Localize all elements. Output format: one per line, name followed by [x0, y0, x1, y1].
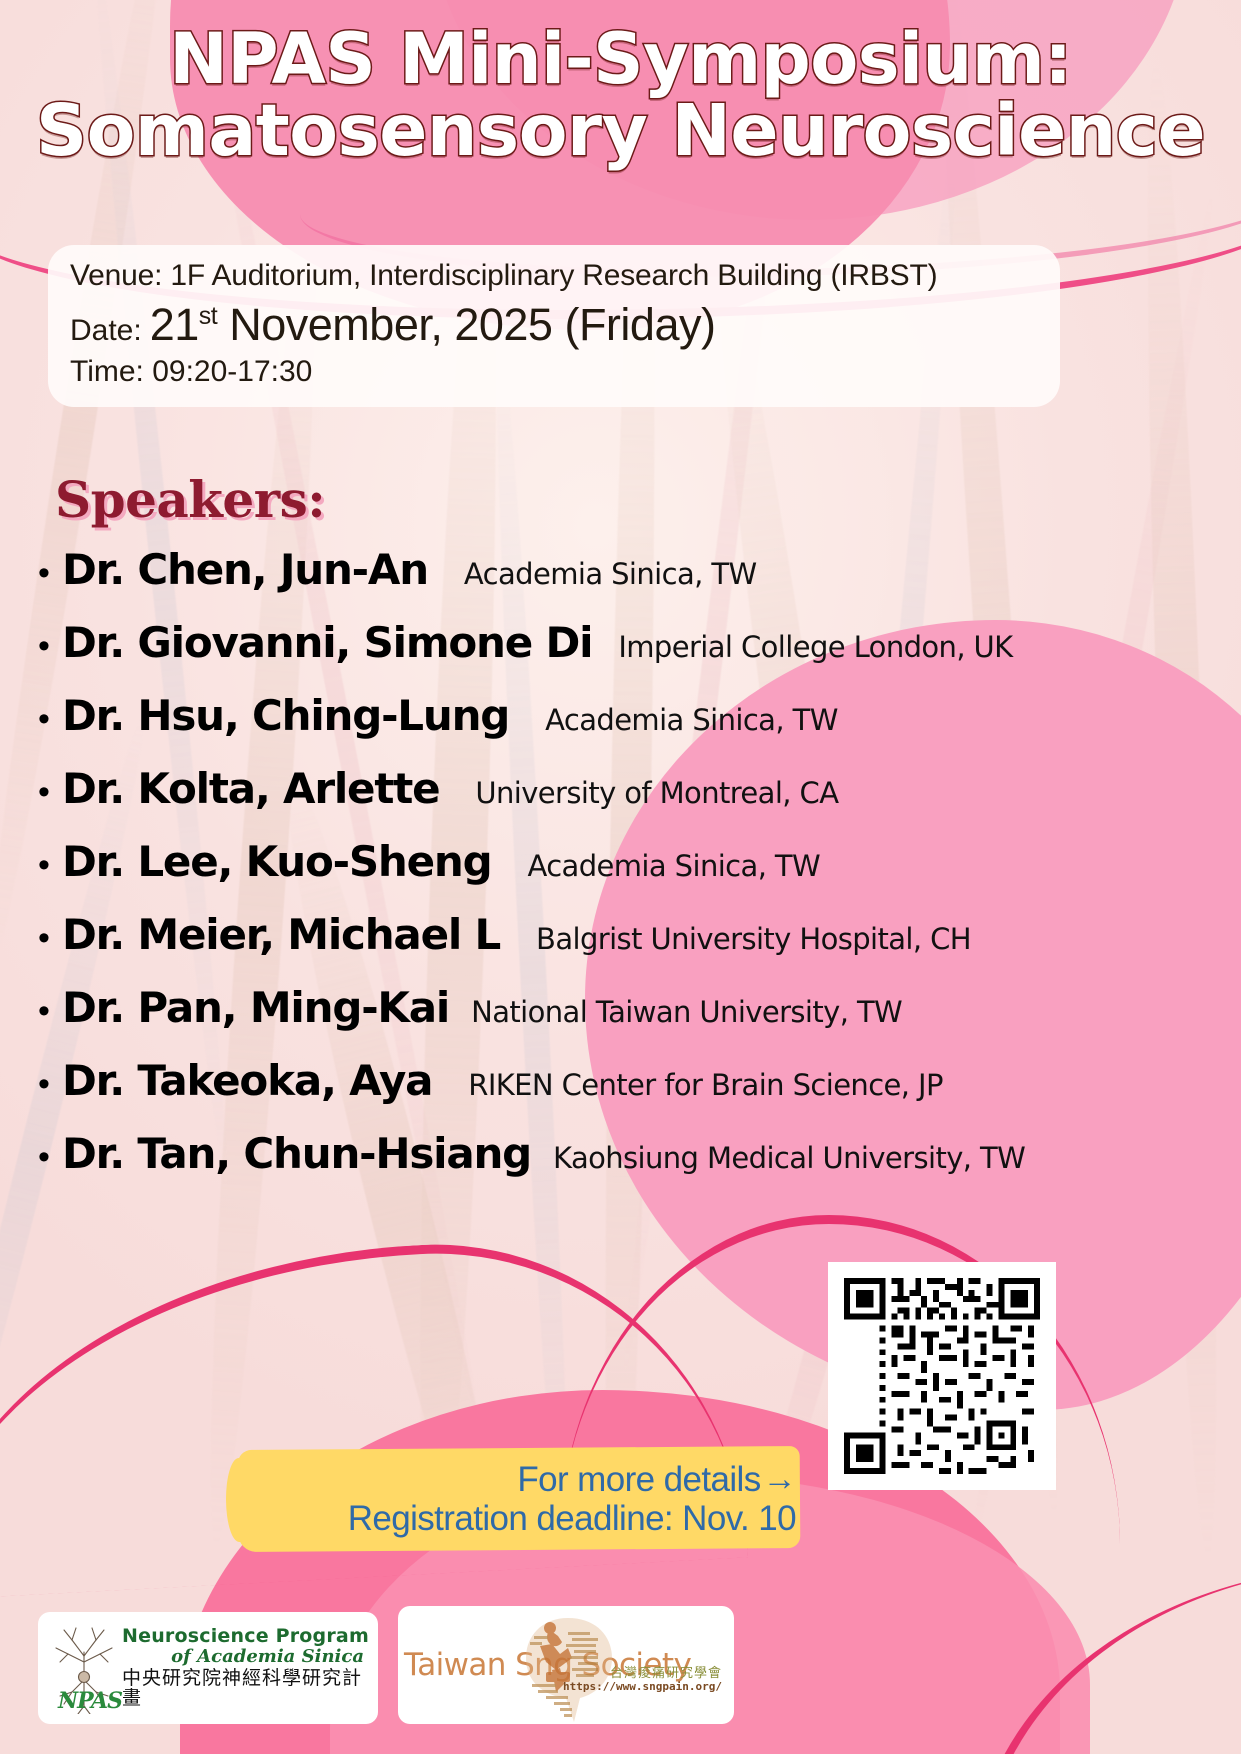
speaker-affiliation: Imperial College London, UK [618, 630, 1012, 664]
speaker-affiliation: Academia Sinica, TW [527, 849, 820, 883]
speaker-row: •Dr. Meier, Michael LBalgrist University… [38, 910, 1218, 983]
date-line: Date: 21st November, 2025 (Friday) [70, 299, 1038, 351]
title-line-2: Somatosensory Neuroscience [0, 95, 1241, 167]
date-ordinal: st [199, 302, 217, 330]
sng-website-url: https://www.sngpain.org/ [563, 1680, 722, 1693]
npas-acronym-mark: NPAS [58, 1688, 122, 1714]
date-day: 21 [150, 299, 199, 350]
date-value: 21st November, 2025 (Friday) [150, 299, 716, 351]
date-label: Date: [70, 314, 142, 348]
bullet-icon: • [38, 702, 62, 736]
speakers-list: •Dr. Chen, Jun-AnAcademia Sinica, TW•Dr.… [38, 545, 1218, 1202]
speaker-affiliation: Balgrist University Hospital, CH [536, 922, 971, 956]
speaker-name: Dr. Tan, Chun-Hsiang [62, 1129, 531, 1178]
registration-callout: For more details → Registration deadline… [238, 1448, 810, 1550]
poster-root: NPAS Mini-Symposium: Somatosensory Neuro… [0, 0, 1241, 1754]
callout-more-details-label: For more details [517, 1460, 760, 1499]
page-title: NPAS Mini-Symposium: Somatosensory Neuro… [0, 24, 1241, 168]
speaker-name: Dr. Lee, Kuo-Sheng [62, 837, 491, 886]
speaker-name: Dr. Chen, Jun-An [62, 545, 428, 594]
speaker-affiliation: RIKEN Center for Brain Science, JP [468, 1068, 943, 1102]
logo-taiwan-sng-society: Taiwan Sng Society [398, 1606, 734, 1724]
sng-logo-content: Taiwan Sng Society [404, 1610, 728, 1720]
qr-code-icon[interactable] [844, 1278, 1040, 1474]
pain-wordcloud-icon [516, 1614, 620, 1724]
callout-line-1: For more details → [517, 1460, 796, 1499]
bullet-icon: • [38, 775, 62, 809]
speaker-row: •Dr. Tan, Chun-HsiangKaohsiung Medical U… [38, 1129, 1218, 1202]
sng-chinese-name: 台灣痠痛研究學會 [610, 1662, 722, 1681]
speaker-row: •Dr. Hsu, Ching-LungAcademia Sinica, TW [38, 691, 1218, 764]
qr-code-card[interactable] [828, 1262, 1056, 1490]
speaker-name: Dr. Pan, Ming-Kai [62, 983, 449, 1032]
bullet-icon: • [38, 921, 62, 955]
speaker-row: •Dr. Chen, Jun-AnAcademia Sinica, TW [38, 545, 1218, 618]
speaker-row: •Dr. Takeoka, AyaRIKEN Center for Brain … [38, 1056, 1218, 1129]
callout-deadline-label: Registration deadline: Nov. 10 [348, 1499, 796, 1538]
speakers-heading: Speakers: [55, 470, 325, 529]
bullet-icon: • [38, 629, 62, 663]
title-line-1: NPAS Mini-Symposium: [169, 18, 1072, 100]
speaker-row: •Dr. Giovanni, Simone DiImperial College… [38, 618, 1218, 691]
speaker-row: •Dr. Kolta, ArletteUniversity of Montrea… [38, 764, 1218, 837]
bullet-icon: • [38, 1067, 62, 1101]
speaker-name: Dr. Hsu, Ching-Lung [62, 691, 509, 740]
event-info-card: Venue: 1F Auditorium, Interdisciplinary … [48, 245, 1060, 407]
bullet-icon: • [38, 1140, 62, 1174]
speaker-affiliation: National Taiwan University, TW [471, 995, 902, 1029]
speaker-affiliation: Kaohsiung Medical University, TW [553, 1141, 1025, 1175]
bullet-icon: • [38, 848, 62, 882]
speaker-row: •Dr. Pan, Ming-KaiNational Taiwan Univer… [38, 983, 1218, 1056]
speaker-name: Dr. Kolta, Arlette [62, 764, 439, 813]
time-line: Time: 09:20-17:30 [70, 355, 1038, 389]
npas-line-3: 中央研究院神經科學研究計畫 [122, 1669, 370, 1709]
bullet-icon: • [38, 556, 62, 590]
npas-text-block: Neuroscience Program of Academia Sinica … [122, 1627, 370, 1709]
speaker-name: Dr. Meier, Michael L [62, 910, 500, 959]
speaker-name: Dr. Takeoka, Aya [62, 1056, 432, 1105]
npas-line-1: Neuroscience Program [122, 1627, 370, 1647]
bullet-icon: • [38, 994, 62, 1028]
speaker-affiliation: Academia Sinica, TW [464, 557, 757, 591]
arrow-right-icon: → [763, 1462, 796, 1496]
logo-npas: Neuroscience Program of Academia Sinica … [38, 1612, 378, 1724]
speaker-affiliation: University of Montreal, CA [475, 776, 838, 810]
venue-line: Venue: 1F Auditorium, Interdisciplinary … [70, 259, 1038, 293]
npas-line-2: of Academia Sinica [122, 1648, 370, 1667]
date-rest: November, 2025 (Friday) [229, 299, 715, 350]
speaker-row: •Dr. Lee, Kuo-ShengAcademia Sinica, TW [38, 837, 1218, 910]
speaker-name: Dr. Giovanni, Simone Di [62, 618, 592, 667]
speaker-affiliation: Academia Sinica, TW [545, 703, 838, 737]
